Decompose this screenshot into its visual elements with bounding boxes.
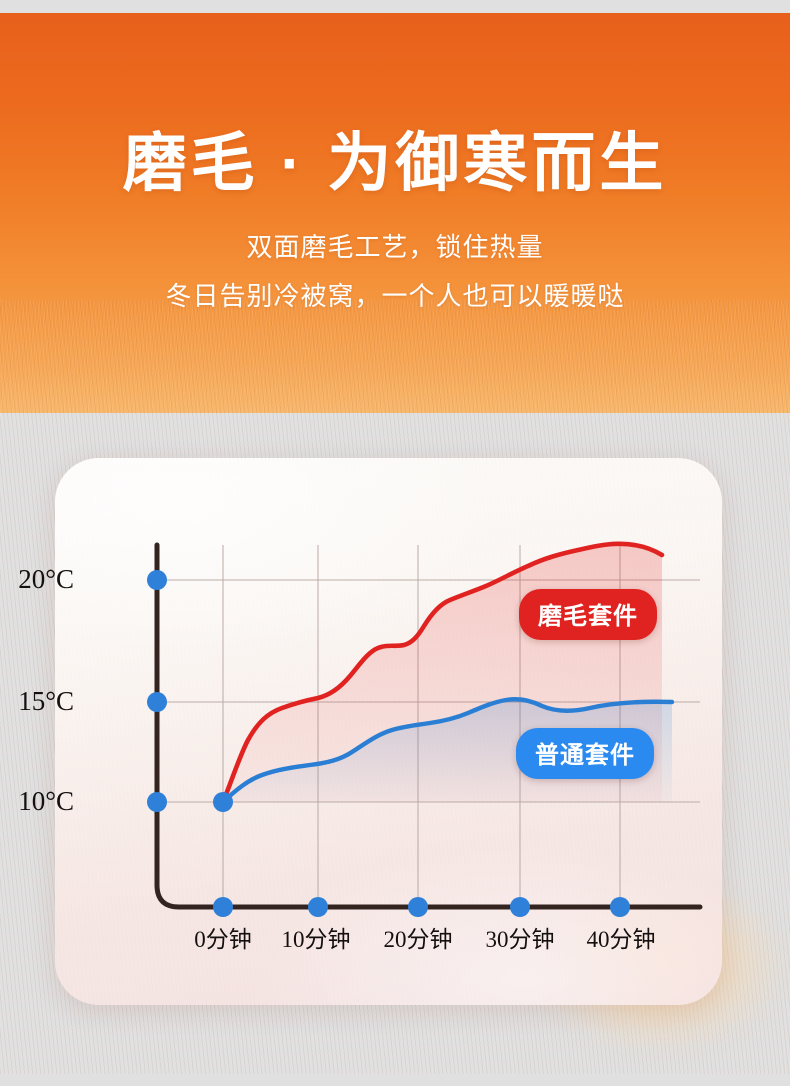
- bottom-margin-strip: [0, 1074, 790, 1086]
- subtitle-line-1: 双面磨毛工艺，锁住热量: [0, 227, 790, 264]
- x-tick-label-20min: 20分钟: [363, 920, 473, 954]
- subtitle-line-2: 冬日告别冷被窝，一个人也可以暖暖哒: [0, 276, 790, 313]
- y-tick-label-20c: 20°C: [0, 564, 74, 595]
- legend-badge-ordinary-set: 普通套件: [516, 728, 654, 779]
- x-tick-label-30min: 30分钟: [465, 920, 575, 954]
- product-detail-page: 磨毛 · 为御寒而生 双面磨毛工艺，锁住热量 冬日告别冷被窝，一个人也可以暖暖哒: [0, 0, 790, 1086]
- top-margin-strip: [0, 0, 790, 13]
- hero-text-block: 磨毛 · 为御寒而生 双面磨毛工艺，锁住热量 冬日告别冷被窝，一个人也可以暖暖哒: [0, 130, 790, 313]
- y-tick-label-10c: 10°C: [0, 786, 74, 817]
- x-tick-label-10min: 10分钟: [261, 920, 371, 954]
- y-tick-label-15c: 15°C: [0, 686, 74, 717]
- legend-badge-brushed-set: 磨毛套件: [519, 589, 657, 640]
- page-title: 磨毛 · 为御寒而生: [0, 130, 790, 197]
- x-tick-label-40min: 40分钟: [566, 920, 676, 954]
